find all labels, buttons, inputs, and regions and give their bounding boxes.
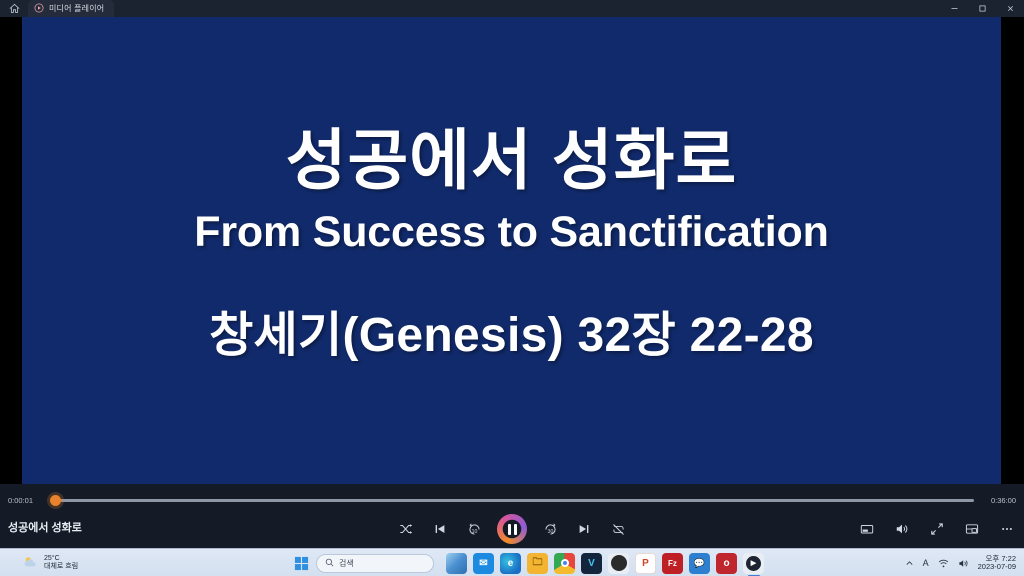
next-icon[interactable] — [573, 518, 595, 540]
slide-title-english: From Success to Sanctification — [194, 211, 828, 254]
search-placeholder: 검색 — [339, 558, 354, 569]
desktop-screen: 미디어 플레이어 성공에서 성화로 From Success to Sancti… — [0, 0, 1024, 576]
video-viewport[interactable]: 성공에서 성화로 From Success to Sanctification … — [0, 17, 1024, 484]
player-control-bar: 0:00:01 0:36:00 성공에서 성화로 10 — [0, 484, 1024, 548]
taskbar-icon-edge[interactable]: e — [500, 553, 521, 574]
close-button[interactable] — [996, 0, 1024, 17]
taskbar-icon-chrome[interactable] — [554, 553, 575, 574]
partly-cloudy-icon — [22, 554, 39, 571]
wifi-icon[interactable] — [938, 558, 949, 569]
weather-description: 대체로 흐림 — [44, 563, 78, 570]
picture-in-picture-icon[interactable] — [961, 518, 983, 540]
tray-overflow-icon[interactable] — [905, 559, 914, 568]
ime-label: A — [923, 558, 929, 568]
rewind-10-icon[interactable]: 10 — [463, 518, 485, 540]
tab-media-player[interactable]: 미디어 플레이어 — [28, 0, 114, 17]
previous-icon[interactable] — [429, 518, 451, 540]
mini-player-icon[interactable] — [856, 518, 878, 540]
slide-title-korean: 성공에서 성화로 — [286, 127, 737, 193]
start-button[interactable] — [290, 552, 312, 574]
clock-date: 2023-07-09 — [978, 563, 1016, 571]
weather-temperature: 25°C — [44, 555, 78, 562]
search-input[interactable]: 검색 — [316, 554, 434, 573]
shuffle-icon[interactable] — [395, 518, 417, 540]
maximize-button[interactable] — [968, 0, 996, 17]
taskbar-icon-mail[interactable]: ✉ — [473, 553, 494, 574]
weather-text: 25°C 대체로 흐림 — [44, 555, 78, 570]
fullscreen-icon[interactable] — [926, 518, 948, 540]
svg-text:30: 30 — [547, 529, 553, 535]
taskbar-icon-widgets[interactable] — [446, 553, 467, 574]
window-controls — [940, 0, 1024, 17]
forward-30-icon[interactable]: 30 — [539, 518, 561, 540]
taskbar-icon-messenger[interactable]: 💬 — [689, 553, 710, 574]
now-playing-title: 성공에서 성화로 — [8, 519, 82, 535]
slide-scripture-reference: 창세기(Genesis) 32장 22-28 — [209, 312, 814, 360]
ime-indicator[interactable]: A — [923, 558, 929, 568]
media-player-icon — [34, 0, 44, 18]
search-icon — [325, 554, 334, 572]
playback-controls: 10 30 — [395, 512, 629, 546]
current-time-label: 0:00:01 — [8, 496, 42, 505]
pause-button[interactable] — [497, 514, 527, 544]
transport-row: 성공에서 성화로 10 30 — [0, 512, 1024, 546]
seek-handle[interactable] — [50, 495, 61, 506]
svg-text:10: 10 — [471, 529, 477, 535]
taskbar-icon-o-app[interactable]: o — [716, 553, 737, 574]
seek-slider[interactable] — [50, 499, 974, 502]
total-time-label: 0:36:00 — [982, 496, 1016, 505]
taskbar-icon-v-app[interactable]: V — [581, 553, 602, 574]
taskbar-icon-media-player[interactable]: ▶ — [743, 553, 764, 574]
more-options-icon[interactable] — [996, 518, 1018, 540]
taskbar-weather-widget[interactable]: 25°C 대체로 흐림 — [0, 554, 160, 571]
speaker-icon[interactable] — [958, 558, 969, 569]
secondary-controls — [856, 512, 1018, 546]
taskbar-icon-powerpoint[interactable]: P — [635, 553, 656, 574]
taskbar-icon-filezilla[interactable]: Fz — [662, 553, 683, 574]
repeat-off-icon[interactable] — [607, 518, 629, 540]
window-title-bar: 미디어 플레이어 — [0, 0, 1024, 17]
taskbar-center-group: 검색 ✉ e 🗀 V P Fz 💬 o ▶ — [290, 549, 764, 576]
taskbar-icon-file-explorer[interactable]: 🗀 — [527, 553, 548, 574]
clock[interactable]: 오후 7:22 2023-07-09 — [978, 555, 1020, 572]
taskbar-icon-dark-circle[interactable] — [608, 553, 629, 574]
seek-row: 0:00:01 0:36:00 — [0, 492, 1024, 508]
taskbar-app-icons: ✉ e 🗀 V P Fz 💬 o ▶ — [446, 553, 764, 574]
volume-icon[interactable] — [891, 518, 913, 540]
system-tray: A 오후 7:22 2023-07-09 — [905, 549, 1020, 576]
video-slide[interactable]: 성공에서 성화로 From Success to Sanctification … — [22, 17, 1001, 484]
pause-icon — [508, 524, 517, 535]
windows-taskbar: 25°C 대체로 흐림 검색 ✉ e 🗀 V — [0, 548, 1024, 576]
home-icon[interactable] — [0, 0, 28, 17]
tab-label: 미디어 플레이어 — [49, 3, 104, 14]
minimize-button[interactable] — [940, 0, 968, 17]
